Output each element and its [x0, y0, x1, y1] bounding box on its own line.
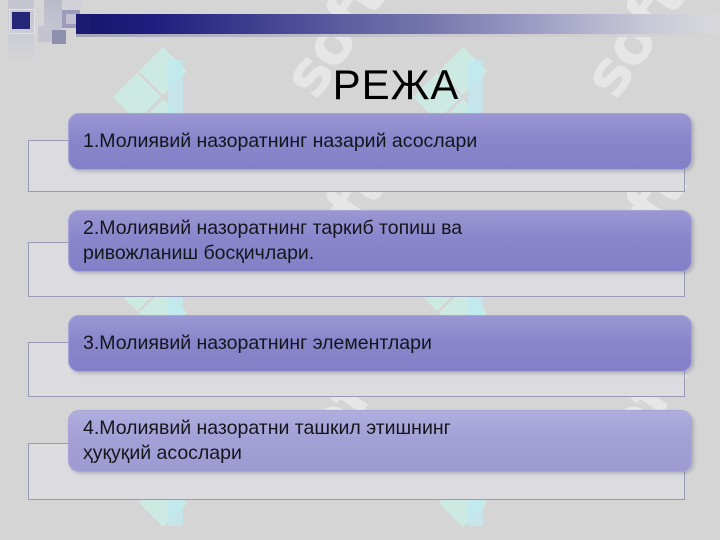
- agenda-item-chip[interactable]: 1.Молиявий назоратнинг назарий асослари: [68, 113, 692, 170]
- deco-inner-square-light: [66, 14, 76, 24]
- deco-navy-square: [12, 12, 30, 29]
- slide-title: РЕЖА: [0, 62, 720, 108]
- header-underline: [76, 34, 720, 37]
- agenda-item-chip[interactable]: 2.Молиявий назоратнинг таркиб топиш ва р…: [68, 210, 692, 272]
- agenda-item-line: ҳуқуқий асослари: [83, 441, 677, 466]
- agenda-item-line: 2.Молиявий назоратнинг таркиб топиш ва: [83, 216, 677, 241]
- deco-navy-wedge: [76, 14, 90, 34]
- agenda-item-chip[interactable]: 4.Молиявий назоратни ташкил этишнинг ҳуқ…: [68, 410, 692, 472]
- agenda-item-line: 3.Молиявий назоратнинг элементлари: [83, 331, 677, 356]
- agenda-item[interactable]: 3.Молиявий назоратнинг элементлари: [28, 315, 692, 395]
- agenda-item[interactable]: 1.Молиявий назоратнинг назарий асослари: [28, 113, 692, 193]
- deco-small-square: [52, 30, 66, 44]
- presentation-slide: soft soft soft: [0, 0, 720, 540]
- header-gradient-bar: [76, 14, 720, 34]
- agenda-item-line: ривожланиш босқичлари.: [83, 241, 677, 266]
- agenda-item[interactable]: 2.Молиявий назоратнинг таркиб топиш ва р…: [28, 210, 692, 298]
- agenda-item-line: 4.Молиявий назоратни ташкил этишнинг: [83, 416, 677, 441]
- agenda-item-chip[interactable]: 3.Молиявий назоратнинг элементлари: [68, 315, 692, 372]
- agenda-item[interactable]: 4.Молиявий назоратни ташкил этишнинг ҳуқ…: [28, 410, 692, 502]
- agenda-item-line: 1.Молиявий назоратнинг назарий асослари: [83, 129, 677, 154]
